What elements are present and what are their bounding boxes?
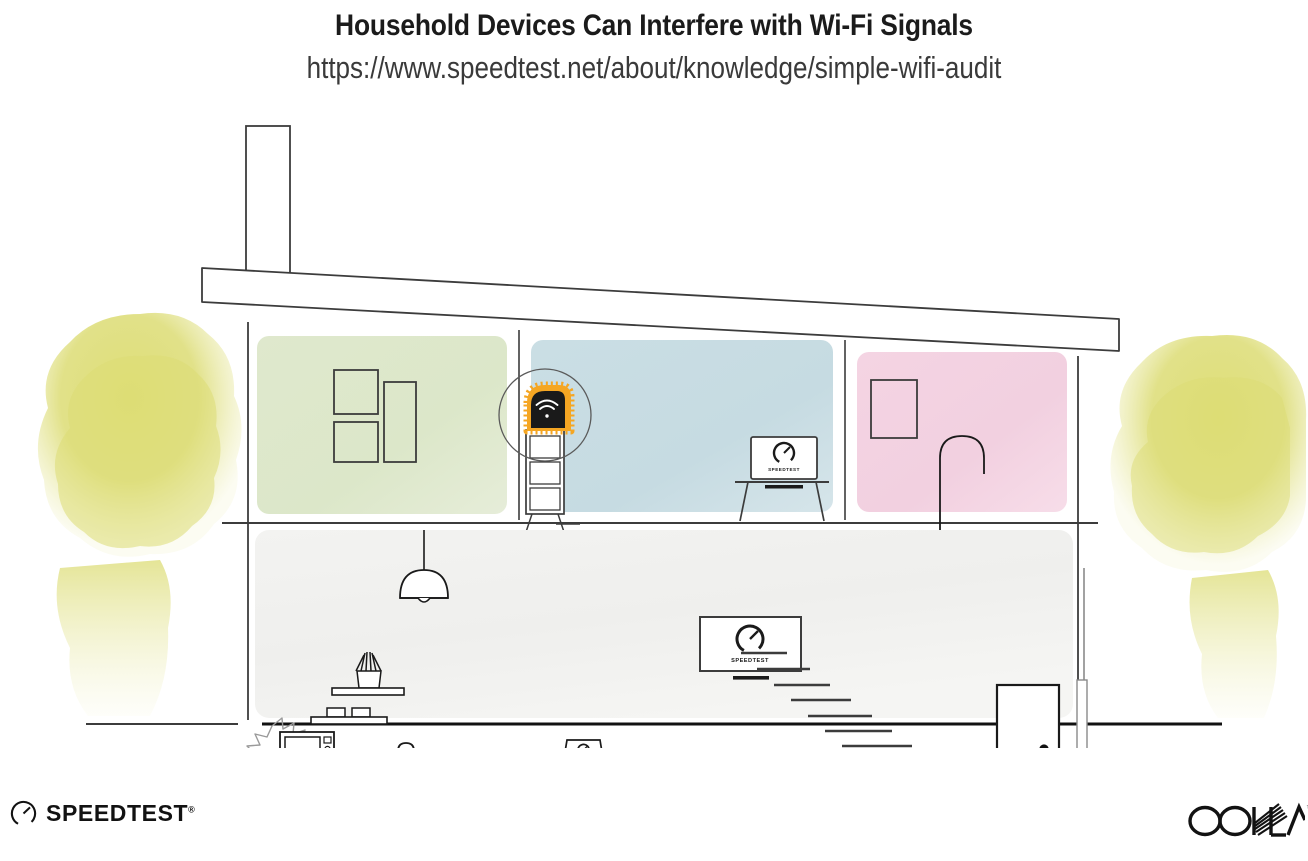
dining-table: SPEEDTEST <box>488 740 638 748</box>
tree-left <box>38 313 242 716</box>
chimney <box>246 126 290 278</box>
header: Household Devices Can Interfere with Wi-… <box>0 0 1308 86</box>
sink-faucet <box>398 743 414 748</box>
bedroom-laptop-brand: SPEEDTEST <box>768 467 800 472</box>
speedtest-wordmark-text: SPEEDTEST <box>46 800 188 826</box>
speedtest-gauge-icon <box>10 800 37 827</box>
front-door[interactable] <box>997 685 1059 748</box>
speedtest-trademark: ® <box>188 804 195 814</box>
wifi-router[interactable] <box>527 385 571 431</box>
tree-right <box>1110 335 1306 718</box>
speedtest-logo: SPEEDTEST® <box>10 800 195 827</box>
router-body <box>531 391 565 428</box>
microwave <box>280 732 334 748</box>
infographic-page: Household Devices Can Interfere with Wi-… <box>0 0 1308 861</box>
wifi-icon-dot <box>545 414 548 417</box>
dresser <box>526 430 564 532</box>
page-title: Household Devices Can Interfere with Wi-… <box>78 0 1229 43</box>
house-cutaway-illustration: SPEEDTEST <box>0 108 1308 748</box>
speedtest-wordmark: SPEEDTEST® <box>46 800 195 827</box>
ookla-logo: ™ <box>1187 802 1308 838</box>
source-url: https://www.speedtest.net/about/knowledg… <box>105 43 1204 86</box>
downstairs-living: SPEEDTEST <box>245 530 1073 748</box>
footer: SPEEDTEST® <box>0 780 1308 861</box>
tv-brand: SPEEDTEST <box>731 658 769 664</box>
dining-laptop[interactable]: SPEEDTEST <box>556 740 614 748</box>
ookla-wordmark <box>1187 802 1305 838</box>
